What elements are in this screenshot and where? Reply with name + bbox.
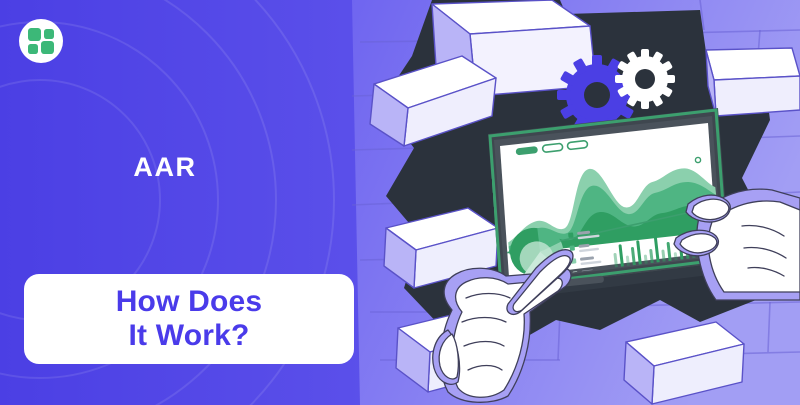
logo-circle bbox=[19, 19, 63, 63]
hero-banner: AAR How Does It Work? bbox=[0, 0, 800, 405]
brand-logo-icon[interactable] bbox=[18, 18, 64, 64]
eyebrow-text: AAR bbox=[0, 152, 330, 183]
headline-line-1: How Does bbox=[116, 285, 263, 318]
headline-card: How Does It Work? bbox=[24, 274, 354, 364]
headline-line-2: It Work? bbox=[128, 319, 249, 352]
brick bbox=[706, 48, 800, 116]
page-title: How Does It Work? bbox=[116, 285, 263, 352]
